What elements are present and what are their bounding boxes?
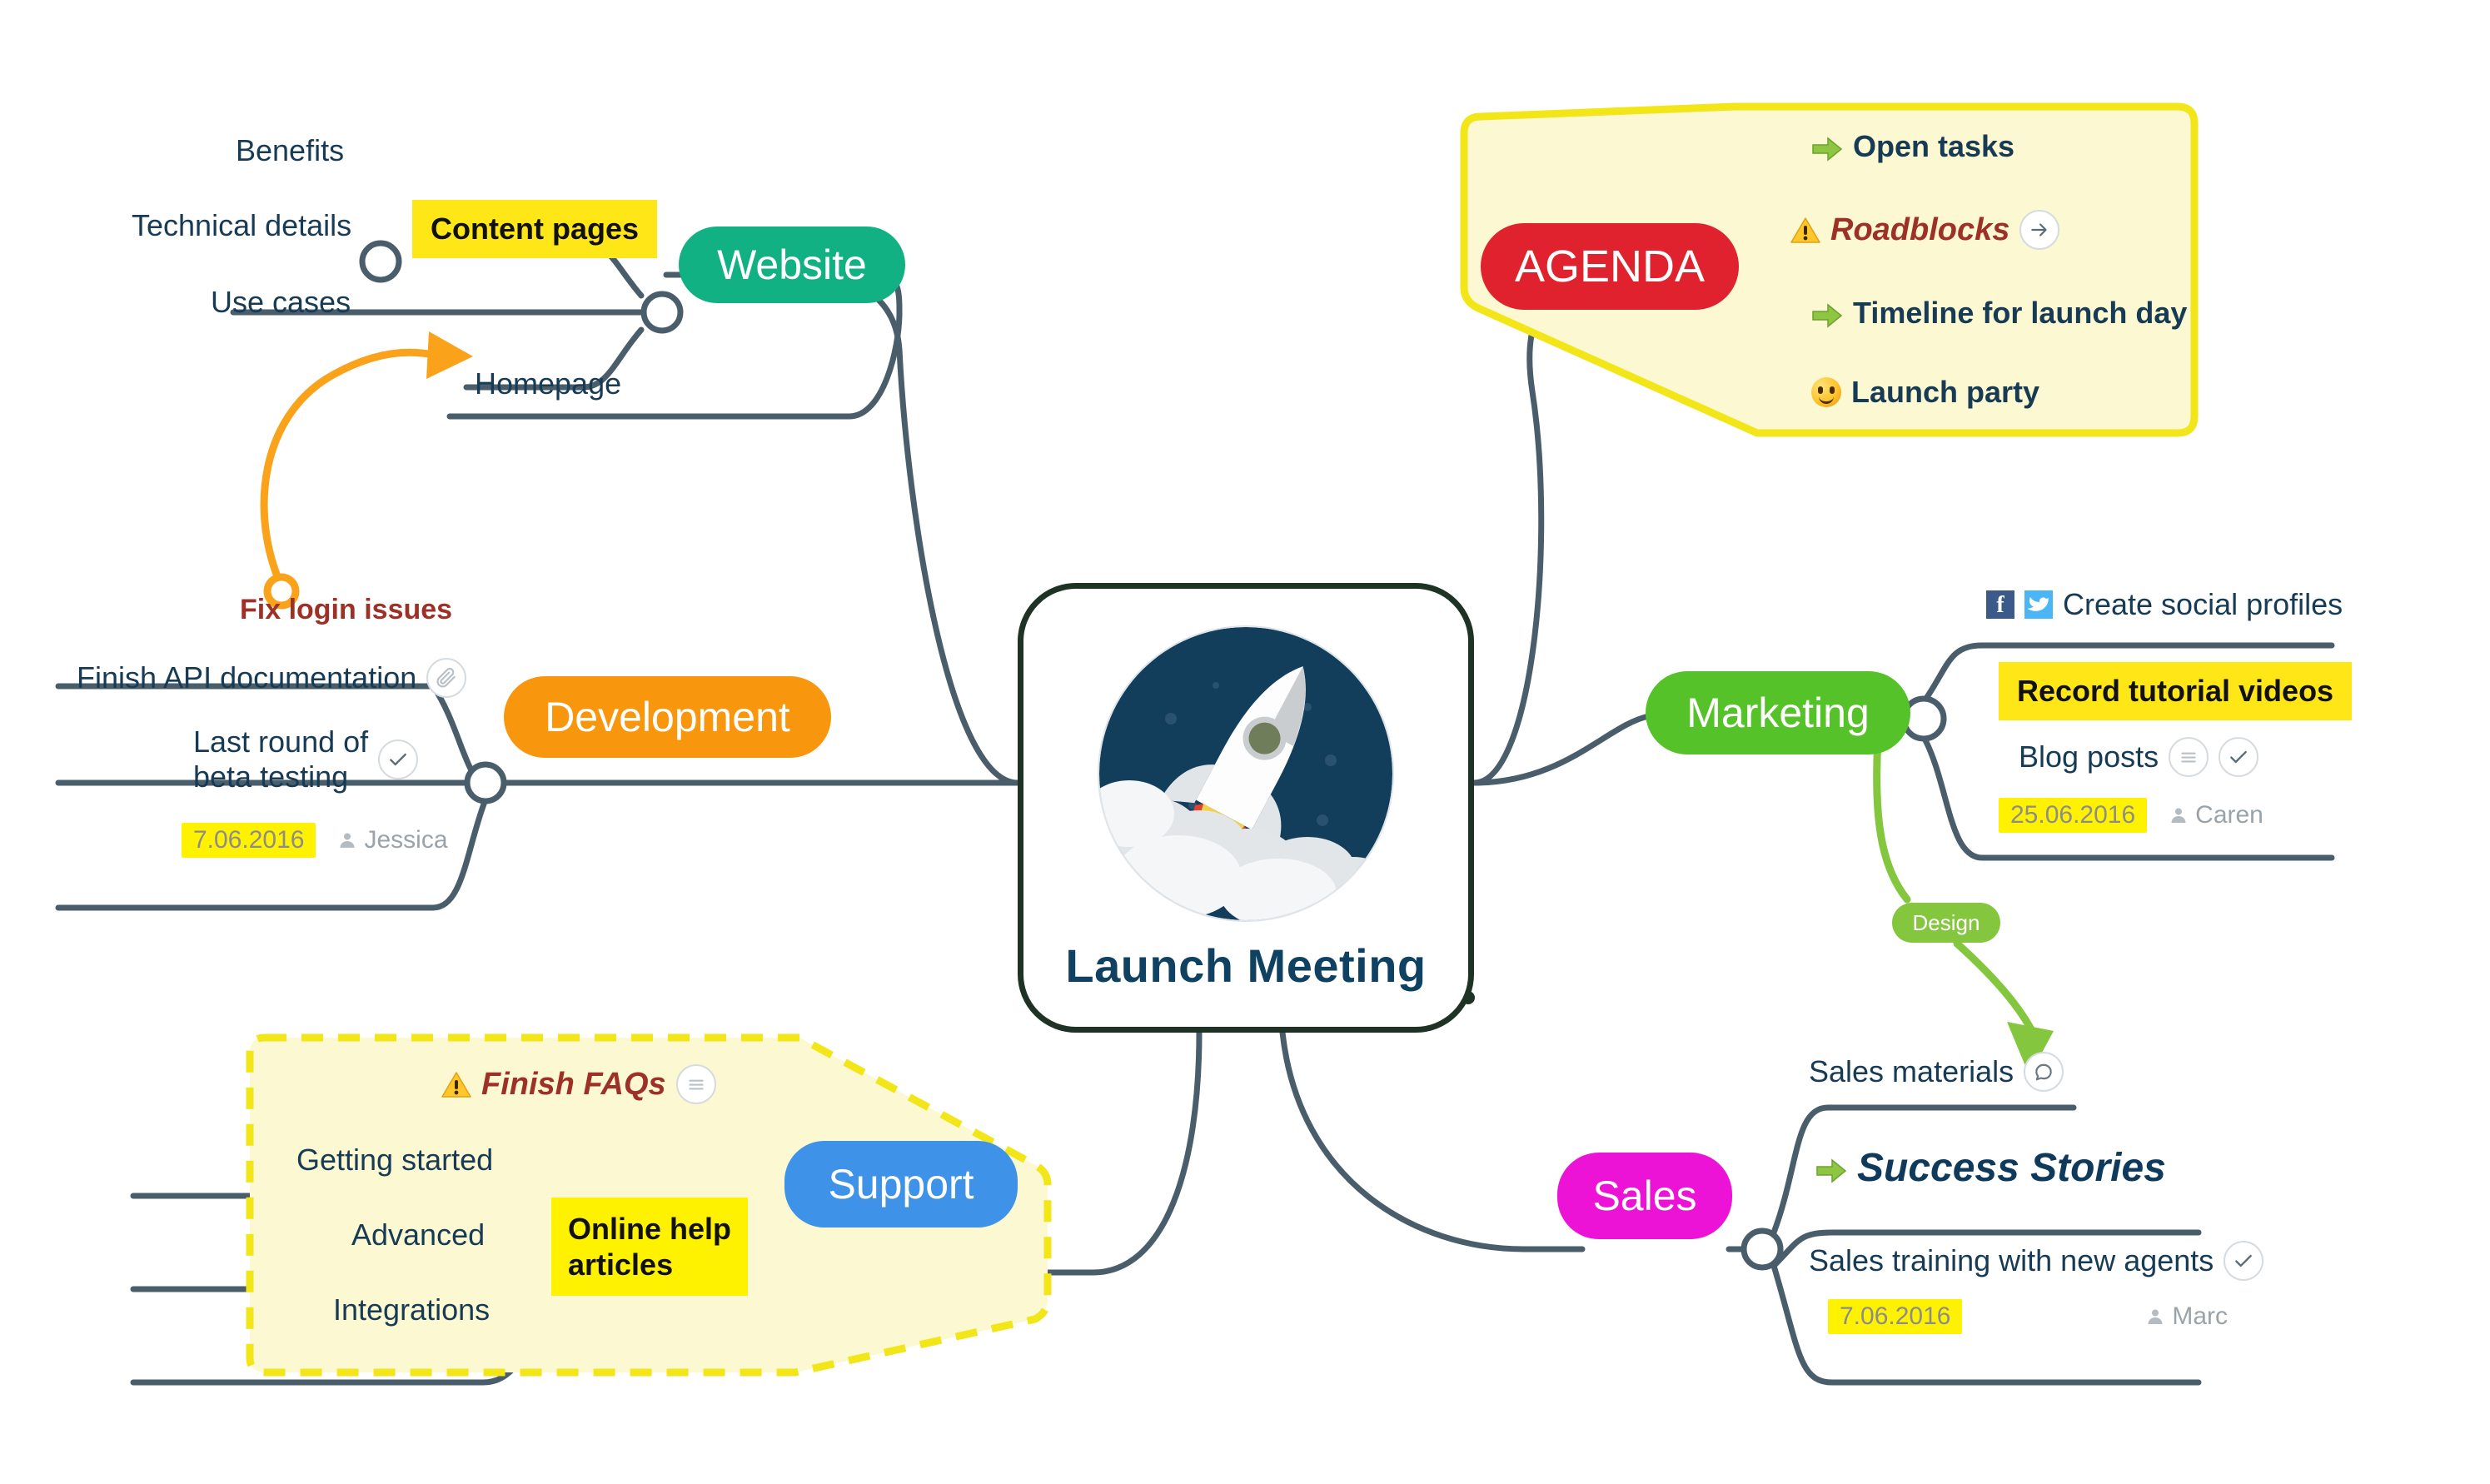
topic-create-social-profiles[interactable]: f Create social profiles: [1986, 587, 2343, 622]
beta-meta: 7.06.2016 Jessica: [182, 823, 448, 858]
training-due-date[interactable]: 7.06.2016: [1828, 1299, 1962, 1334]
relation-arrow-fix-login: [264, 331, 473, 605]
topic-content-pages[interactable]: Content pages: [412, 200, 657, 258]
topic-roadblocks[interactable]: Roadblocks: [1790, 210, 2059, 250]
mindmap-canvas: Launch Meeting Website Development Suppo…: [0, 0, 2490, 1484]
topic-finish-faqs[interactable]: Finish FAQs: [441, 1064, 716, 1104]
topic-getting-started[interactable]: Getting started: [296, 1143, 493, 1178]
task-done-icon[interactable]: [2224, 1241, 2263, 1281]
topic-blog-posts[interactable]: Blog posts: [2019, 737, 2258, 777]
beta-assignee[interactable]: Jessica: [337, 826, 447, 854]
sales-collapse-node: [1744, 1231, 1780, 1267]
topic-open-tasks[interactable]: Open tasks: [1811, 129, 2014, 164]
support-collapse-node: [756, 1254, 793, 1291]
topic-technical-details[interactable]: Technical details: [132, 208, 351, 243]
green-arrow-icon: [1811, 134, 1843, 159]
blog-due-date[interactable]: 25.06.2016: [1999, 798, 2147, 833]
branch-development[interactable]: Development: [504, 676, 831, 758]
person-icon: [337, 830, 357, 850]
agenda-collapse-node: [1727, 294, 1764, 331]
task-done-icon[interactable]: [378, 740, 418, 779]
topic-success-stories[interactable]: Success Stories: [1815, 1145, 2166, 1193]
topic-finish-api-label: Finish API documentation: [77, 660, 416, 695]
attachment-icon[interactable]: [426, 658, 466, 698]
beta-due-date[interactable]: 7.06.2016: [182, 823, 316, 858]
warning-icon: [1790, 217, 1820, 244]
topic-launch-party[interactable]: Launch party: [1811, 375, 2039, 410]
smiley-icon: [1811, 377, 1841, 407]
topic-finish-api[interactable]: Finish API documentation: [77, 658, 466, 698]
topic-sales-training[interactable]: Sales training with new agents: [1809, 1241, 2263, 1281]
topic-record-tutorial-videos[interactable]: Record tutorial videos: [1999, 662, 2352, 720]
warning-icon: [441, 1071, 471, 1098]
topic-online-help-articles[interactable]: Online help articles: [551, 1198, 748, 1296]
topic-timeline[interactable]: Timeline for launch day: [1811, 296, 2187, 331]
twitter-icon: [2024, 590, 2053, 619]
green-arrow-icon: [1811, 301, 1843, 326]
topic-sales-materials[interactable]: Sales materials: [1809, 1052, 2064, 1092]
root-node[interactable]: Launch Meeting: [1018, 583, 1474, 1033]
branch-marketing[interactable]: Marketing: [1646, 671, 1910, 754]
branch-sales[interactable]: Sales: [1557, 1153, 1732, 1239]
topic-use-cases[interactable]: Use cases: [211, 285, 351, 320]
topic-integrations[interactable]: Integrations: [333, 1292, 490, 1327]
online-help-line1: Online help: [568, 1212, 731, 1246]
comment-icon[interactable]: [2024, 1052, 2064, 1092]
development-collapse-node: [467, 764, 504, 801]
topic-beta-line1: Last round of: [193, 725, 368, 759]
person-icon: [2169, 805, 2189, 825]
topic-homepage[interactable]: Homepage: [475, 366, 621, 401]
root-title: Launch Meeting: [1065, 939, 1426, 993]
blog-assignee[interactable]: Caren: [2169, 801, 2263, 829]
website-collapse-node: [362, 243, 399, 280]
training-meta: 7.06.2016 Marc: [1828, 1299, 2228, 1334]
online-help-line2: articles: [568, 1247, 673, 1282]
relation-label-fix-login[interactable]: Fix login issues: [240, 593, 452, 626]
topic-beta-testing[interactable]: Last round of beta testing: [193, 725, 418, 795]
link-arrow-icon[interactable]: [2019, 210, 2059, 250]
branch-website[interactable]: Website: [679, 227, 905, 303]
relation-label-design[interactable]: Design: [1892, 903, 2000, 943]
note-icon[interactable]: [676, 1064, 716, 1104]
task-done-icon[interactable]: [2219, 737, 2258, 777]
branch-support[interactable]: Support: [784, 1141, 1018, 1228]
topic-advanced[interactable]: Advanced: [351, 1218, 485, 1252]
branch-agenda[interactable]: AGENDA: [1481, 223, 1739, 310]
facebook-icon: f: [1986, 590, 2014, 619]
topic-beta-line2: beta testing: [193, 759, 348, 794]
green-arrow-icon: [1815, 1156, 1847, 1181]
person-icon: [2145, 1307, 2165, 1327]
blog-meta: 25.06.2016 Caren: [1999, 798, 2263, 833]
rocket-illustration: [1099, 627, 1392, 920]
topic-benefits[interactable]: Benefits: [236, 133, 344, 168]
training-assignee[interactable]: Marc: [2145, 1302, 2228, 1331]
note-icon[interactable]: [2169, 737, 2209, 777]
